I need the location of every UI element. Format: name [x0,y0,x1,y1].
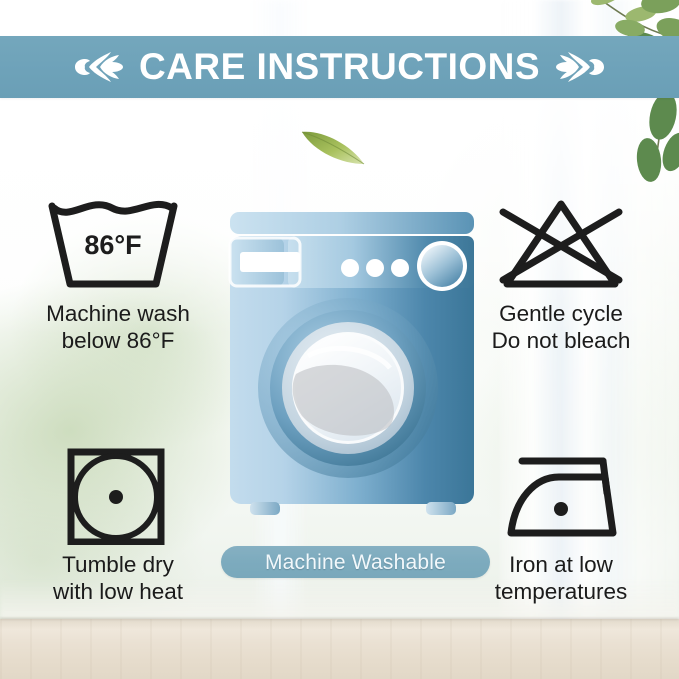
care-symbol-do-not-bleach: Gentle cycle Do not bleach [451,196,671,355]
care-symbol-caption: Machine wash below 86°F [46,300,190,355]
fleur-de-lis-icon [554,46,612,88]
washing-machine-illustration [228,210,476,530]
care-symbol-caption: Tumble dry with low heat [53,551,183,606]
wash-tub-icon: 86°F [46,196,190,294]
drawer-handle [240,252,300,272]
fleur-de-lis-icon [67,46,125,88]
machine-foot [250,502,280,515]
indicator-dot [341,259,359,277]
care-symbol-machine-wash: 86°F Machine wash below 86°F [8,196,228,355]
wood-grain-texture [0,619,679,679]
care-symbol-caption: Gentle cycle Do not bleach [492,300,631,355]
care-symbol-iron-low: Iron at low temperatures [451,447,671,606]
machine-foot [426,502,456,515]
indicator-dot [391,259,409,277]
do-not-bleach-triangle-icon [489,196,633,294]
machine-top-lid [230,212,474,234]
care-symbol-tumble-dry: Tumble dry with low heat [8,447,228,606]
indicator-dot [366,259,384,277]
falling-leaf-icon [298,122,368,168]
care-instructions-graphic: CARE INSTRUCTIONS 86°F Machine wash belo… [0,0,679,679]
tumble-dry-low-icon [46,447,190,545]
rotary-knob [421,245,463,287]
badge-label: Machine Washable [265,552,446,573]
wash-temperature-label: 86°F [84,230,141,260]
page-title: CARE INSTRUCTIONS [125,48,554,87]
care-symbol-caption: Iron at low temperatures [495,551,628,606]
header-banner: CARE INSTRUCTIONS [0,36,679,98]
machine-washable-badge: Machine Washable [221,546,490,578]
iron-low-icon [489,447,633,545]
